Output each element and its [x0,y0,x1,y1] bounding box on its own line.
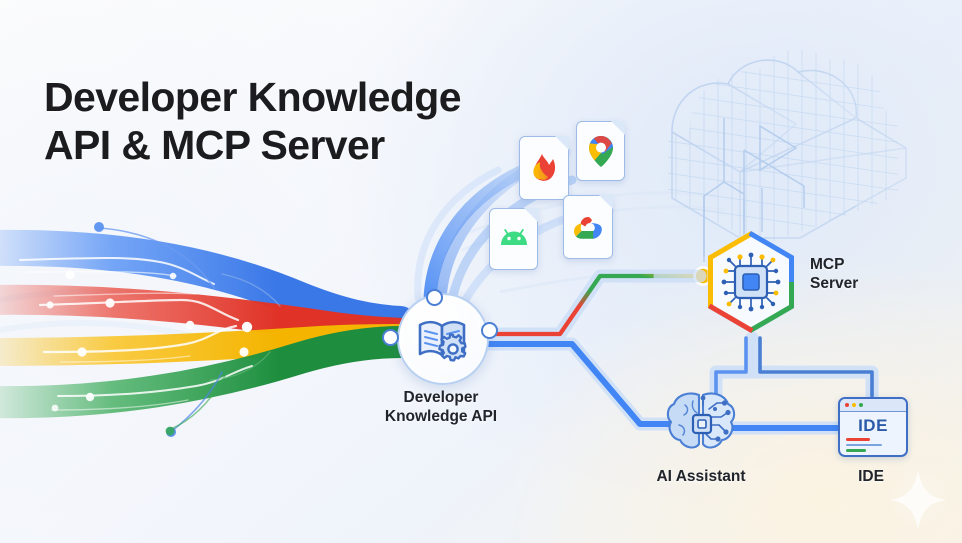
ai-assistant-label: AI Assistant [621,468,781,487]
hub-port-left [382,329,399,346]
traffic-light-red [845,403,849,407]
hub-label: Developer Knowledge API [361,389,521,427]
book-gear-icon [413,309,473,369]
google-cloud-icon [564,214,612,240]
cpu-chip-circuit-icon [722,253,781,312]
illustration-canvas: Developer Knowledge API & MCP Server [0,0,962,543]
link-hub-to-mcp [488,276,700,334]
traffic-light-yellow [852,403,856,407]
brain-circuit-icon [665,389,737,455]
page-fold-corner [599,195,613,209]
developer-knowledge-api-node[interactable] [397,293,489,385]
firebase-flame-icon [520,151,568,185]
title-line-1: Developer Knowledge [44,74,461,122]
ide-window-text: IDE [840,417,906,434]
android-doc-card[interactable] [489,208,538,270]
android-robot-icon [490,228,537,250]
title-line-2: API & MCP Server [44,122,461,170]
traffic-light-green [859,403,863,407]
ide-label: IDE [811,468,931,487]
ide-node[interactable]: IDE [838,397,908,457]
google-cloud-doc-card[interactable] [563,195,613,259]
mcp-server-node[interactable] [703,228,799,336]
hub-port-right [481,322,498,339]
page-fold-corner [555,136,569,150]
google-maps-pin-icon [577,134,624,168]
mcp-server-label: MCP Server [810,256,930,294]
page-fold-corner [524,208,538,222]
hub-port-top [426,289,443,306]
ide-titlebar [840,399,906,412]
page-title: Developer Knowledge API & MCP Server [44,74,461,170]
firebase-doc-card[interactable] [519,136,569,200]
google-maps-doc-card[interactable] [576,121,625,181]
ide-code-lines [846,438,900,457]
ai-assistant-node[interactable] [665,389,737,455]
page-fold-corner [611,121,625,135]
